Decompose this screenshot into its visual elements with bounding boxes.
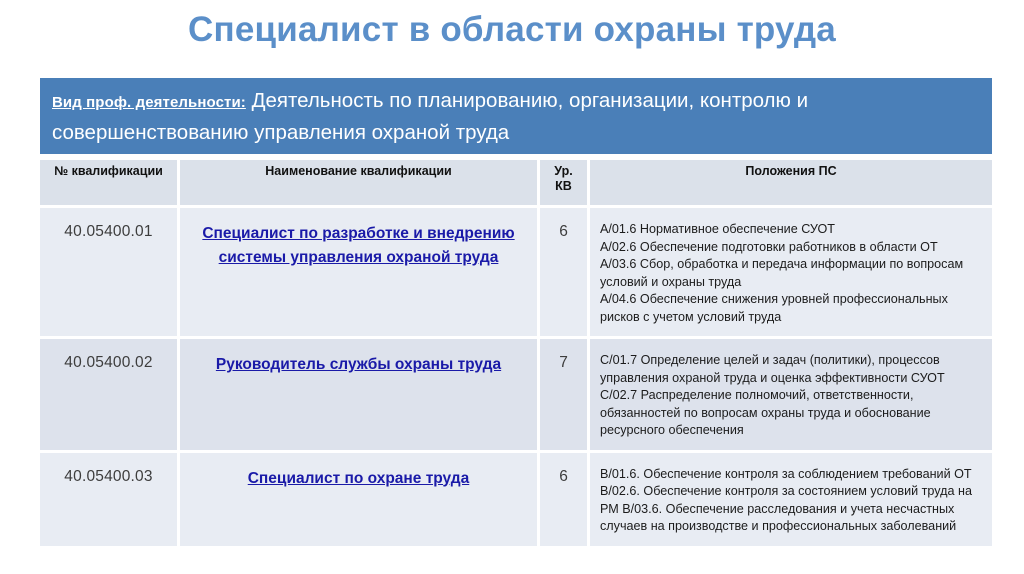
page-title: Специалист в области охраны труда xyxy=(0,8,1024,52)
qualification-provisions: B/01.6. Обеспечение контроля за соблюден… xyxy=(590,453,992,549)
qualification-name-cell: Специалист по охране труда xyxy=(180,453,540,549)
qualification-name-link[interactable]: Руководитель службы охраны труда xyxy=(216,356,501,373)
column-header-name: Наименование квалификации xyxy=(180,160,540,208)
qualification-level: 7 xyxy=(540,339,590,453)
column-header-number: № квалификации xyxy=(40,160,180,208)
qualification-level: 6 xyxy=(540,208,590,339)
qualification-provisions: A/01.6 Нормативное обеспечение СУОТ A/02… xyxy=(590,208,992,339)
qualification-provisions: C/01.7 Определение целей и задач (полити… xyxy=(590,339,992,453)
table-row: 40.05400.02 Руководитель службы охраны т… xyxy=(40,339,992,453)
qualification-number: 40.05400.03 xyxy=(40,453,180,549)
column-header-level: Ур. КВ xyxy=(540,160,590,208)
table-header-row: № квалификации Наименование квалификации… xyxy=(40,160,992,208)
qualification-name-link[interactable]: Специалист по охране труда xyxy=(248,470,470,487)
qualification-number: 40.05400.01 xyxy=(40,208,180,339)
table-row: 40.05400.01 Специалист по разработке и в… xyxy=(40,208,992,339)
activity-type-band: Вид проф. деятельности: Деятельность по … xyxy=(40,78,992,154)
qualification-name-cell: Руководитель службы охраны труда xyxy=(180,339,540,453)
qualification-level: 6 xyxy=(540,453,590,549)
activity-type-text: Вид проф. деятельности: Деятельность по … xyxy=(52,86,978,148)
qualification-name-link[interactable]: Специалист по разработке и внедрению сис… xyxy=(202,225,514,266)
qualification-number: 40.05400.02 xyxy=(40,339,180,453)
table-body: 40.05400.01 Специалист по разработке и в… xyxy=(40,208,992,549)
table-row: 40.05400.03 Специалист по охране труда 6… xyxy=(40,453,992,549)
qualification-name-cell: Специалист по разработке и внедрению сис… xyxy=(180,208,540,339)
slide: Специалист в области охраны труда Вид пр… xyxy=(0,0,1024,574)
qualifications-table: № квалификации Наименование квалификации… xyxy=(40,160,992,549)
table-header: № квалификации Наименование квалификации… xyxy=(40,160,992,208)
column-header-level-line2: КВ xyxy=(555,179,572,193)
column-header-provisions: Положения ПС xyxy=(590,160,992,208)
activity-type-label: Вид проф. деятельности: xyxy=(52,94,246,111)
column-header-level-line1: Ур. xyxy=(554,164,572,178)
